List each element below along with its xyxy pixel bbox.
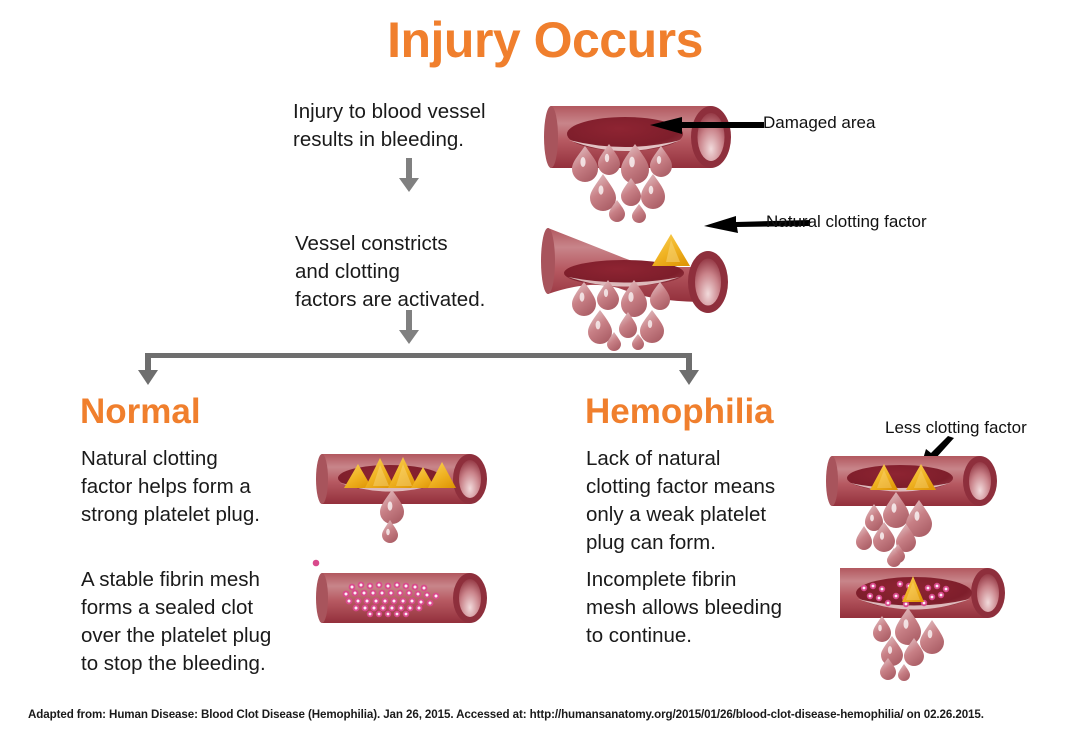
hemophilia-item-2-text: Incomplete fibrin mesh allows bleeding t… xyxy=(586,566,826,650)
branch-connector-arrows xyxy=(140,350,705,390)
hemophilia-item-1-text: Lack of natural clotting factor means on… xyxy=(586,445,826,557)
page-title: Injury Occurs xyxy=(0,14,1090,67)
vessel-constricted-illustration xyxy=(540,218,755,343)
callout-damaged-area: Damaged area xyxy=(763,113,875,133)
footer-citation: Adapted from: Human Disease: Blood Clot … xyxy=(28,708,1073,721)
vessel-complete-fibrin-mesh-illustration xyxy=(316,563,506,643)
vessel-incomplete-fibrin-mesh-illustration xyxy=(840,548,1040,683)
flow-arrow-down-1 xyxy=(396,158,422,192)
flow-arrow-down-2 xyxy=(396,310,422,344)
vessel-strong-platelet-plug-illustration xyxy=(316,446,506,546)
section-heading-normal: Normal xyxy=(80,394,201,429)
normal-item-1-text: Natural clotting factor helps form a str… xyxy=(81,445,326,529)
step-constrict-text: Vessel constricts and clotting factors a… xyxy=(295,230,545,314)
damaged-area-pointer-arrow xyxy=(636,113,766,137)
vessel-weak-platelet-plug-illustration xyxy=(826,448,1026,558)
step-injury-text: Injury to blood vessel results in bleedi… xyxy=(293,98,533,154)
callout-natural-clotting-factor: Natural clotting factor xyxy=(766,212,927,232)
normal-item-2-text: A stable fibrin mesh forms a sealed clot… xyxy=(81,566,331,678)
infographic-canvas: Injury Occurs Injury to blood vessel res… xyxy=(0,0,1090,737)
section-heading-hemophilia: Hemophilia xyxy=(585,394,774,429)
vessel-injured-bleeding-illustration xyxy=(543,92,758,212)
